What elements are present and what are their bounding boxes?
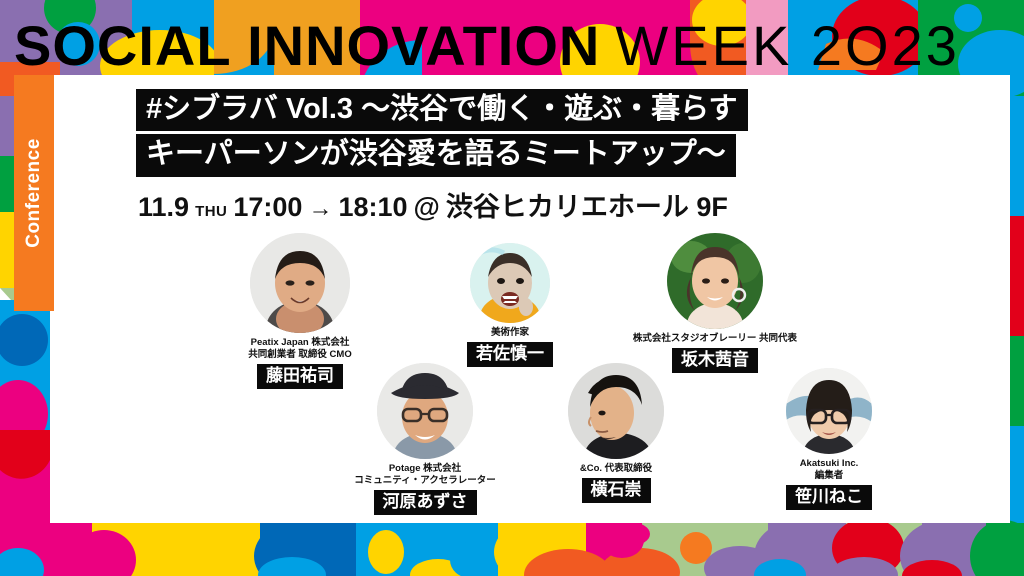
event-card: #シブラバ Vol.3 ～渋谷で働く・遊ぶ・暮らす キーパーソンが渋谷愛を語るミ… bbox=[50, 75, 1010, 523]
speaker-affiliation-line-1: 株式会社スタジオブレーリー 共同代表 bbox=[595, 333, 835, 345]
at-symbol-icon: @ bbox=[414, 192, 440, 223]
logo-bold-text: SOCIAL INNOVATION bbox=[14, 14, 600, 77]
conference-ribbon-label: Conference bbox=[23, 138, 45, 248]
speaker-card: &Co. 代表取締役 横石崇 bbox=[520, 363, 712, 503]
conference-ribbon: Conference bbox=[14, 75, 54, 311]
speaker-card: 美術作家 若佐慎一 bbox=[422, 243, 598, 367]
event-day-of-week: THU bbox=[195, 203, 227, 220]
social-innovation-week-logo: SOCIAL INNOVATION WEEK 2O23 bbox=[14, 18, 960, 74]
time-range-arrow-icon: → bbox=[308, 195, 332, 223]
event-title-line-2: キーパーソンが渋谷愛を語るミートアップ～ bbox=[136, 134, 736, 176]
speaker-card: Potage 株式会社 コミュニティ・アクセラレーター 河原あずさ bbox=[315, 363, 535, 515]
speaker-affiliation-line-1: Potage 株式会社 bbox=[315, 463, 535, 475]
speaker-affiliation-line-1: Peatix Japan 株式会社 bbox=[200, 337, 400, 349]
event-end-time: 18:10 bbox=[338, 192, 407, 223]
speaker-photo-sakaki bbox=[667, 233, 763, 329]
event-datetime-venue: 11.9 THU 17:00 → 18:10 @ 渋谷ヒカリエホール 9F bbox=[138, 185, 728, 224]
speaker-affiliation: 株式会社スタジオブレーリー 共同代表 bbox=[595, 333, 835, 345]
speaker-affiliation-line-2: 共同創業者 取締役 CMO bbox=[200, 349, 400, 361]
speaker-photo-sasakawa bbox=[786, 368, 872, 454]
speaker-name: 笹川ねこ bbox=[786, 485, 872, 510]
event-title-line-1: #シブラバ Vol.3 ～渋谷で働く・遊ぶ・暮らす bbox=[136, 89, 748, 131]
speaker-affiliation: Potage 株式会社 コミュニティ・アクセラレーター bbox=[315, 463, 535, 487]
speaker-card: Akatsuki Inc. 編集者 笹川ねこ bbox=[733, 368, 925, 510]
logo-light-text: WEEK 2O23 bbox=[615, 14, 959, 77]
speaker-affiliation: Peatix Japan 株式会社 共同創業者 取締役 CMO bbox=[200, 337, 400, 361]
event-venue: 渋谷ヒカリエホール 9F bbox=[446, 185, 728, 224]
speaker-photo-kawahara bbox=[377, 363, 473, 459]
speaker-photo-yokoishi bbox=[568, 363, 664, 459]
event-title-group: #シブラバ Vol.3 ～渋谷で働く・遊ぶ・暮らす キーパーソンが渋谷愛を語るミ… bbox=[136, 89, 748, 177]
speaker-affiliation: 美術作家 bbox=[422, 327, 598, 339]
speaker-affiliation-line-1: &Co. 代表取締役 bbox=[520, 463, 712, 475]
speaker-affiliation-line-2: 編集者 bbox=[733, 470, 925, 482]
speaker-affiliation: &Co. 代表取締役 bbox=[520, 463, 712, 475]
speaker-name: 横石崇 bbox=[582, 478, 651, 503]
speaker-affiliation-line-2: コミュニティ・アクセラレーター bbox=[315, 475, 535, 487]
speaker-affiliation-line-1: Akatsuki Inc. bbox=[733, 458, 925, 470]
speaker-card: 株式会社スタジオブレーリー 共同代表 坂木茜音 bbox=[595, 233, 835, 373]
event-date: 11.9 bbox=[138, 192, 189, 223]
speaker-affiliation: Akatsuki Inc. 編集者 bbox=[733, 458, 925, 482]
speaker-photo-wakasa bbox=[470, 243, 550, 323]
event-start-time: 17:00 bbox=[233, 192, 302, 223]
speaker-photo-fujita bbox=[250, 233, 350, 333]
speaker-name: 河原あずさ bbox=[374, 490, 477, 515]
speaker-affiliation-line-1: 美術作家 bbox=[422, 327, 598, 339]
